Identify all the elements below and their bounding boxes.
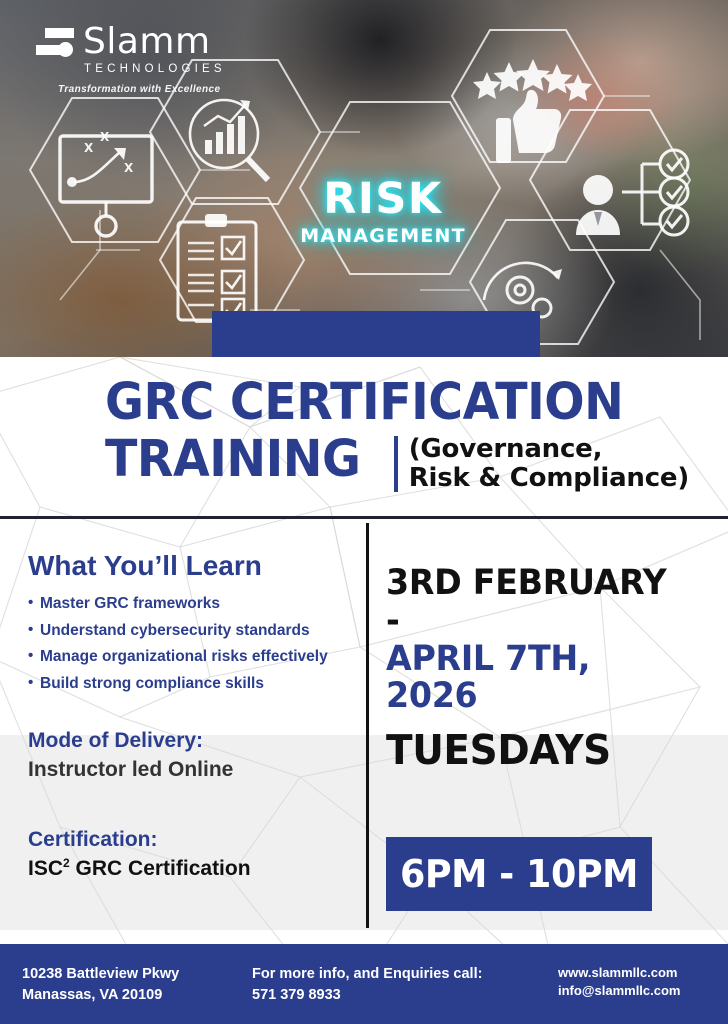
course-time-label: 6PM - 10PM [400,855,638,893]
footer-phone-number[interactable]: 571 379 8933 [252,985,482,1006]
footer-email-link[interactable]: info@slammllc.com [558,982,680,1000]
risk-management-badge: RISK MANAGEMENT [288,178,478,246]
brand-logo: Slamm TECHNOLOGIES Transformation with E… [36,24,226,95]
footer-bar: 10238 Battleview Pkwy Manassas, VA 20109… [0,944,728,1024]
certification-block: Certification: ISC2 GRC Certification [28,828,358,882]
svg-text:X: X [124,161,134,175]
course-date-line2: APRIL 7TH, 2026 [386,641,690,717]
hero-accent-bar [212,311,540,357]
footer-address: 10238 Battleview Pkwy Manassas, VA 20109 [22,964,179,1005]
footer-enquiries: For more info, and Enquiries call: 571 3… [252,964,482,1005]
vertical-divider [366,523,369,928]
clipboard-checklist-icon [178,214,256,321]
footer-contact-links: www.slammllc.com info@slammllc.com [558,964,680,1001]
footer-address-line1: 10238 Battleview Pkwy [22,964,179,985]
logo-subtitle: TECHNOLOGIES [84,63,226,75]
risk-badge-sub: MANAGEMENT [288,227,478,246]
right-content-column: 3RD FEBRUARY - APRIL 7TH, 2026 [386,565,706,716]
course-time-badge: 6PM - 10PM [386,837,652,911]
certification-value-superscript: 2 [63,856,70,870]
mode-of-delivery-block: Mode of Delivery: Instructor led Online [28,729,358,783]
course-date-line1: 3RD FEBRUARY - [386,565,690,641]
what-you-will-learn-heading: What You’ll Learn [28,552,358,580]
certification-label: Certification: [28,828,358,853]
mode-of-delivery-label: Mode of Delivery: [28,729,358,754]
left-content-column: What You’ll Learn Master GRC frameworks … [28,552,358,702]
learning-outcomes-list: Master GRC frameworks Understand cyberse… [28,596,358,691]
list-item: Build strong compliance skills [28,676,358,692]
mode-of-delivery-value: Instructor led Online [28,757,358,783]
logo-tagline: Transformation with Excellence [58,84,226,95]
title-subtitle: (Governance, Risk & Compliance) [409,434,689,493]
footer-enquiries-label: For more info, and Enquiries call: [252,964,482,985]
list-item: Manage organizational risks effectively [28,649,358,665]
svg-text:X: X [84,141,94,155]
main-title-block: GRC CERTIFICATION TRAINING (Governance, … [0,370,728,516]
certification-value-suffix: GRC Certification [70,857,251,880]
horizontal-divider [0,516,728,519]
certification-value-prefix: ISC [28,857,63,880]
flyer-root: X X X [0,0,728,1024]
footer-address-line2: Manassas, VA 20109 [22,985,179,1006]
page-title-line2: TRAINING [105,434,360,485]
footer-website-link[interactable]: www.slammllc.com [558,964,680,982]
course-weekday: TUESDAYS [386,730,611,771]
hero-banner: X X X [0,0,728,357]
title-separator-bar [394,436,398,492]
person-checklist-icon [576,150,688,235]
title-subtitle-line1: (Governance, [409,435,689,464]
certification-value: ISC2 GRC Certification [28,856,358,882]
svg-text:X: X [100,130,110,144]
strategy-board-icon: X X X [60,130,152,236]
list-item: Understand cybersecurity standards [28,623,358,639]
list-item: Master GRC frameworks [28,596,358,612]
slamm-logo-mark-icon [36,25,74,59]
page-title-line1: GRC CERTIFICATION [105,377,623,428]
title-subtitle-line2: Risk & Compliance) [409,464,689,493]
gears-icon [484,263,562,317]
risk-badge-main: RISK [288,178,478,221]
logo-wordmark: Slamm [83,24,211,60]
